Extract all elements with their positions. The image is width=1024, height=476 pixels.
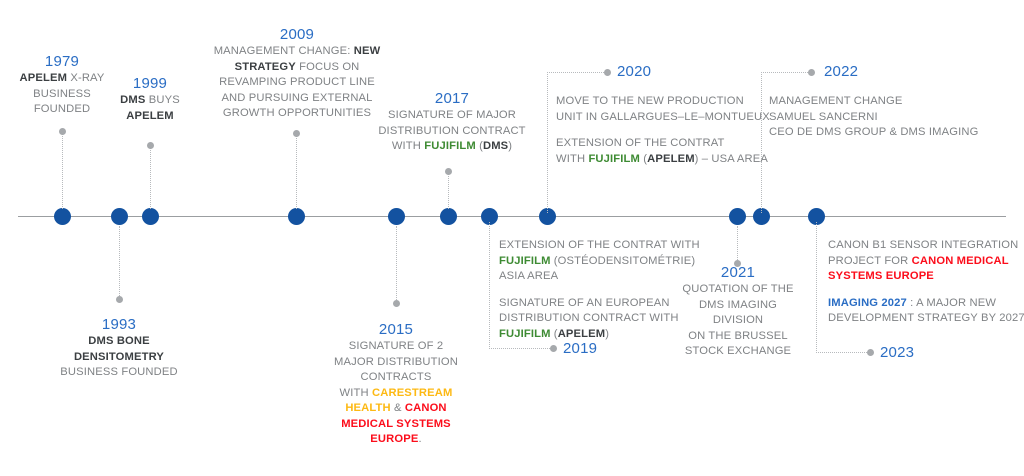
event-2009-line1: MANAGEMENT CHANGE: [214,45,354,57]
event-year-2023: 2023 [880,343,914,362]
event-1993-line1: DMS BONE [88,335,150,347]
event-text-2023-part1: CANON B1 SENSOR INTEGRATION PROJECT FOR … [828,238,1024,285]
connector-2009 [296,133,297,209]
event-text-2020-part2: EXTENSION OF THE CONTRAT WITH FUJIFILM (… [556,136,806,167]
event-year-2020: 2020 [617,62,651,81]
event-2021-line3: ON THE BRUSSEL [680,329,796,345]
event-text-2023-part2: IMAGING 2027 : A MAJOR NEW DEVELOPMENT S… [828,296,1024,327]
event-2017-line1: SIGNATURE OF MAJOR [372,108,532,124]
event-2019-apelem: APELEM [558,328,606,340]
event-2023-p1-line2-pre: PROJECT FOR [828,255,912,267]
event-2009-line2-strong: STRATEGY [235,61,296,73]
event-2009-line2: FOCUS ON [296,61,360,73]
event-2015-health: HEALTH [345,402,390,414]
connector-2015 [396,226,397,302]
event-year-2019: 2019 [563,339,597,358]
connector-dot-2022 [808,69,815,76]
event-2015-line1: SIGNATURE OF 2 [325,339,467,355]
event-1993-line2: DENSITOMETRY [74,351,164,363]
event-text-1993: DMS BONE DENSITOMETRY BUSINESS FOUNDED [58,334,180,381]
event-text-2017: SIGNATURE OF MAJOR DISTRIBUTION CONTRACT… [372,108,532,155]
event-text-2015: SIGNATURE OF 2 MAJOR DISTRIBUTION CONTRA… [325,339,467,448]
event-year-2009: 2009 [188,25,406,44]
event-2017-paren-open: ( [476,140,483,152]
connector-dot-2017 [445,168,452,175]
event-2020-p2-line2-pre: WITH [556,153,588,165]
event-2020-apelem: APELEM [647,153,695,165]
event-2015-period: . [418,433,421,445]
event-2015: 2015 SIGNATURE OF 2 MAJOR DISTRIBUTION C… [325,320,467,448]
event-1979-line1-strong: APELEM [20,72,68,84]
event-2022-line2: SAMUEL SANCERNI [769,110,1017,126]
event-2022-line1: MANAGEMENT CHANGE [769,94,1017,110]
event-2023-imaging-2027: IMAGING 2027 [828,297,907,309]
event-2021-line2: DMS IMAGING DIVISION [680,298,796,329]
connector-dot-2009 [293,130,300,137]
event-2021-line4: STOCK EXCHANGE [680,344,796,360]
event-text-2022: MANAGEMENT CHANGE SAMUEL SANCERNI CEO DE… [769,94,1017,141]
timeline-node-2017[interactable] [440,208,457,225]
connector-dot-1993 [116,296,123,303]
connector-dot-1999 [147,142,154,149]
event-2019-p1-line2-post: (OSTÉODENSITOMÉTRIE) [551,255,696,267]
event-2015-line7: EUROPE [370,433,418,445]
timeline-node-2015[interactable] [388,208,405,225]
event-year-2022: 2022 [824,62,858,81]
event-2021: 2021 QUOTATION OF THE DMS IMAGING DIVISI… [680,263,796,360]
event-2017-fujifilm: FUJIFILM [424,140,476,152]
timeline-canvas: 1979 APELEM X-RAY BUSINESS FOUNDED 1999 … [0,0,1024,476]
event-2019-paren-close: ) [605,328,609,340]
event-2023-p2-line1-post: : A MAJOR NEW [907,297,996,309]
event-2017-line2: DISTRIBUTION CONTRACT [372,124,532,140]
event-2019-fujifilm-1: FUJIFILM [499,255,551,267]
event-2015-carestream: CARESTREAM [372,387,452,399]
connector-1993 [119,226,120,298]
event-1999-line1-strong: DMS [120,94,145,106]
event-1993: 1993 DMS BONE DENSITOMETRY BUSINESS FOUN… [58,315,180,381]
timeline-node-1979[interactable] [54,208,71,225]
event-2015-line4-pre: WITH [340,387,372,399]
event-2015-amp: & [391,402,405,414]
event-2015-line6: MEDICAL SYSTEMS [341,418,451,430]
event-1993-line3: BUSINESS FOUNDED [58,365,180,381]
event-1999-line1: BUYS [145,94,179,106]
timeline-axis [18,216,1006,217]
timeline-node-2021[interactable] [729,208,746,225]
event-2019-p1-line1: EXTENSION OF THE CONTRAT WITH [499,238,719,254]
event-1999-line2: APELEM [126,110,174,122]
event-2023-p1-line1: CANON B1 SENSOR INTEGRATION [828,238,1024,254]
event-2019-paren-open: ( [551,328,558,340]
event-2021-line1: QUOTATION OF THE [680,282,796,298]
event-2022: MANAGEMENT CHANGE SAMUEL SANCERNI CEO DE… [769,94,1017,141]
event-2023-canon: CANON MEDICAL [912,255,1009,267]
event-year-1993: 1993 [58,315,180,334]
event-2009-line1-strong: NEW [354,45,381,57]
connector-1979 [62,131,63,209]
event-2019-fujifilm-2: FUJIFILM [499,328,551,340]
connector-2021 [737,226,738,262]
connector-dot-2019 [550,345,557,352]
event-year-2017: 2017 [372,89,532,108]
event-2020-p2-line2-post: ) – USA AREA [695,153,768,165]
connector-1999 [150,145,151,209]
event-2015-canon: CANON [405,402,447,414]
event-2017-line3-pre: WITH [392,140,424,152]
event-year-1979: 1979 [2,52,122,71]
timeline-node-1993[interactable] [111,208,128,225]
event-2023-p2-line2: DEVELOPMENT STRATEGY BY 2027 [828,311,1024,327]
connector-dot-2023 [867,349,874,356]
event-2017-paren-close: ) [508,140,512,152]
event-text-2021: QUOTATION OF THE DMS IMAGING DIVISION ON… [680,282,796,360]
event-year-2021: 2021 [680,263,796,282]
event-2023: CANON B1 SENSOR INTEGRATION PROJECT FOR … [828,238,1024,327]
spacer-2023 [828,285,1024,296]
connector-dot-2020 [604,69,611,76]
event-year-2015: 2015 [325,320,467,339]
event-2017-dms: DMS [483,140,508,152]
event-2022-line3: CEO DE DMS GROUP & DMS IMAGING [769,125,1017,141]
timeline-node-1999[interactable] [142,208,159,225]
connector-dot-2015 [393,300,400,307]
connector-dot-1979 [59,128,66,135]
event-2015-line3: CONTRACTS [325,370,467,386]
connector-2017 [448,171,449,209]
event-2017: 2017 SIGNATURE OF MAJOR DISTRIBUTION CON… [372,89,532,155]
event-2020-fujifilm: FUJIFILM [588,153,640,165]
timeline-node-2009[interactable] [288,208,305,225]
event-2015-line2: MAJOR DISTRIBUTION [325,355,467,371]
event-2023-p1-line3: SYSTEMS EUROPE [828,270,934,282]
